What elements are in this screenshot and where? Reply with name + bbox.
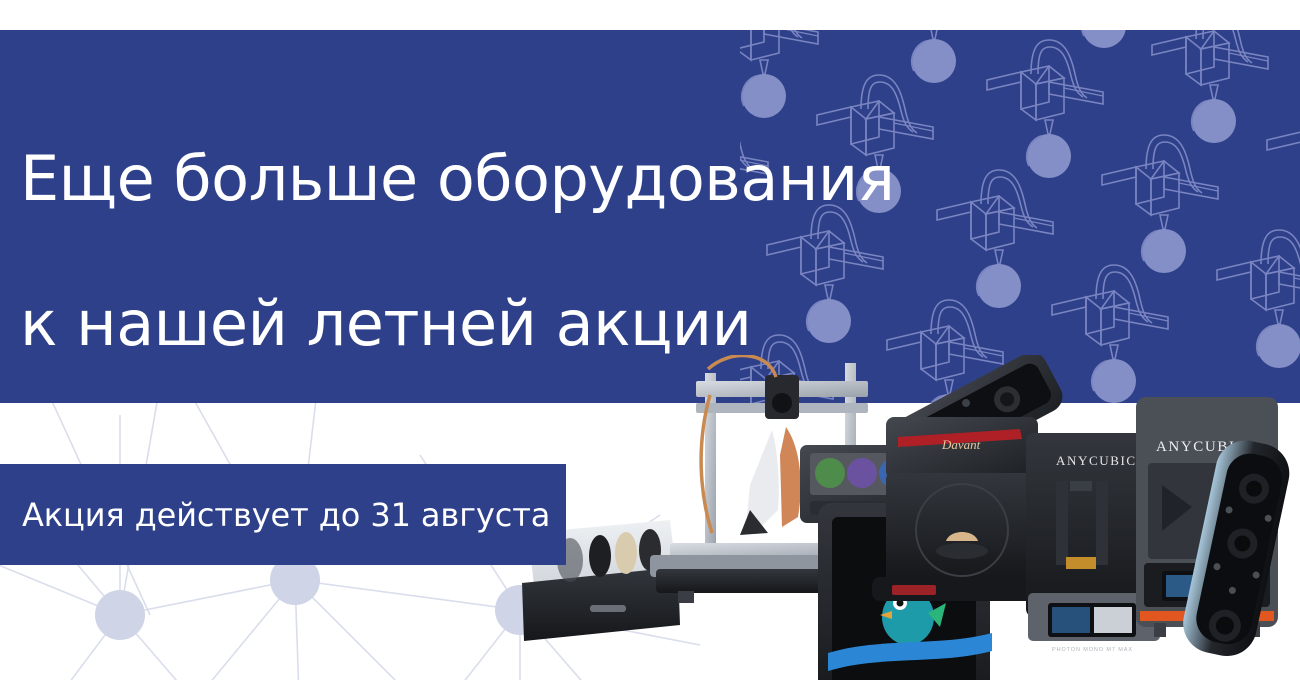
- headline-line-1: Еще больше оборудования: [20, 143, 894, 216]
- product-davant-dental-printer: Davant: [872, 417, 1052, 601]
- svg-text:Davant: Davant: [941, 437, 981, 452]
- promo-deadline-text: Акция действует до 31 августа: [0, 496, 550, 534]
- promo-deadline-badge: Акция действует до 31 августа: [0, 464, 566, 565]
- page-title: Еще больше оборудования к нашей летней а…: [20, 70, 894, 433]
- svg-text:PHOTON MONO M7 MAX: PHOTON MONO M7 MAX: [1052, 647, 1133, 653]
- svg-text:ANYCUBIC: ANYCUBIC: [1056, 453, 1137, 468]
- headline-line-2: к нашей летней акции: [20, 288, 894, 361]
- promo-banner: Еще больше оборудования к нашей летней а…: [0, 0, 1300, 680]
